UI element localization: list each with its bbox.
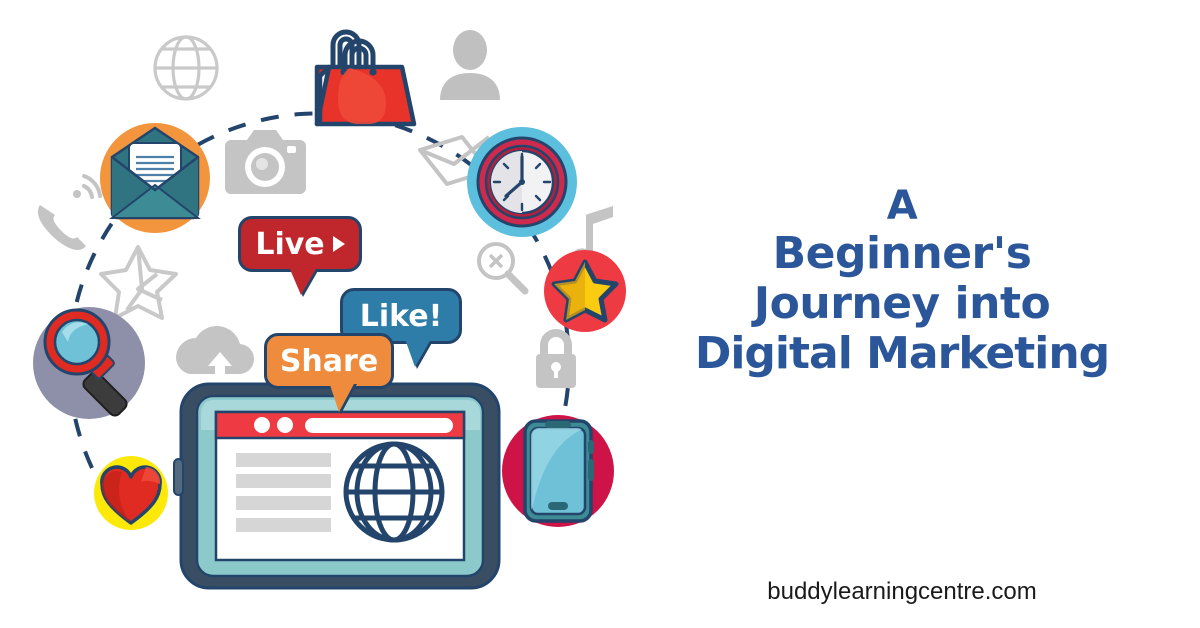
- tablet-device: [174, 384, 499, 588]
- play-icon: [333, 236, 345, 252]
- globe-wireframe-icon: [155, 37, 217, 99]
- camera-icon: [225, 130, 306, 194]
- bubble-share-label: Share: [280, 344, 378, 379]
- page-title: A Beginner's Journey into Digital Market…: [612, 186, 1192, 376]
- smartphone-icon: [502, 415, 614, 527]
- poster-canvas: Live Like! Share A Beginner's Journey in…: [0, 0, 1200, 628]
- browser-address-bar: [305, 418, 453, 433]
- bubble-live-label: Live: [255, 227, 324, 262]
- email-envelope-icon: [100, 123, 210, 233]
- title-line-3: Journey into: [612, 282, 1192, 326]
- bubble-tail: [329, 382, 355, 412]
- website-url: buddylearningcentre.com: [612, 578, 1192, 606]
- clock-icon: [467, 127, 577, 237]
- shopping-bag-icon: [317, 32, 414, 124]
- search-remove-icon: [479, 244, 525, 291]
- title-line-4: Digital Marketing: [612, 332, 1192, 376]
- search-magnifier-icon: [33, 307, 145, 419]
- title-line-1: A: [612, 186, 1192, 226]
- title-line-2: Beginner's: [612, 232, 1192, 276]
- phone-signal-icon: [38, 176, 100, 250]
- heart-icon: [94, 456, 168, 530]
- speech-bubble-share[interactable]: Share: [264, 333, 394, 389]
- cloud-upload-icon: [176, 326, 254, 379]
- bubble-like-label: Like!: [360, 299, 443, 334]
- bubble-tail: [289, 267, 317, 295]
- star-outline-icon: [101, 247, 176, 318]
- speech-bubble-live[interactable]: Live: [238, 216, 362, 272]
- bubble-tail: [405, 339, 431, 367]
- browser-dot: [254, 417, 270, 433]
- browser-dot: [277, 417, 293, 433]
- padlock-icon: [536, 329, 576, 388]
- user-avatar-icon: [440, 30, 500, 100]
